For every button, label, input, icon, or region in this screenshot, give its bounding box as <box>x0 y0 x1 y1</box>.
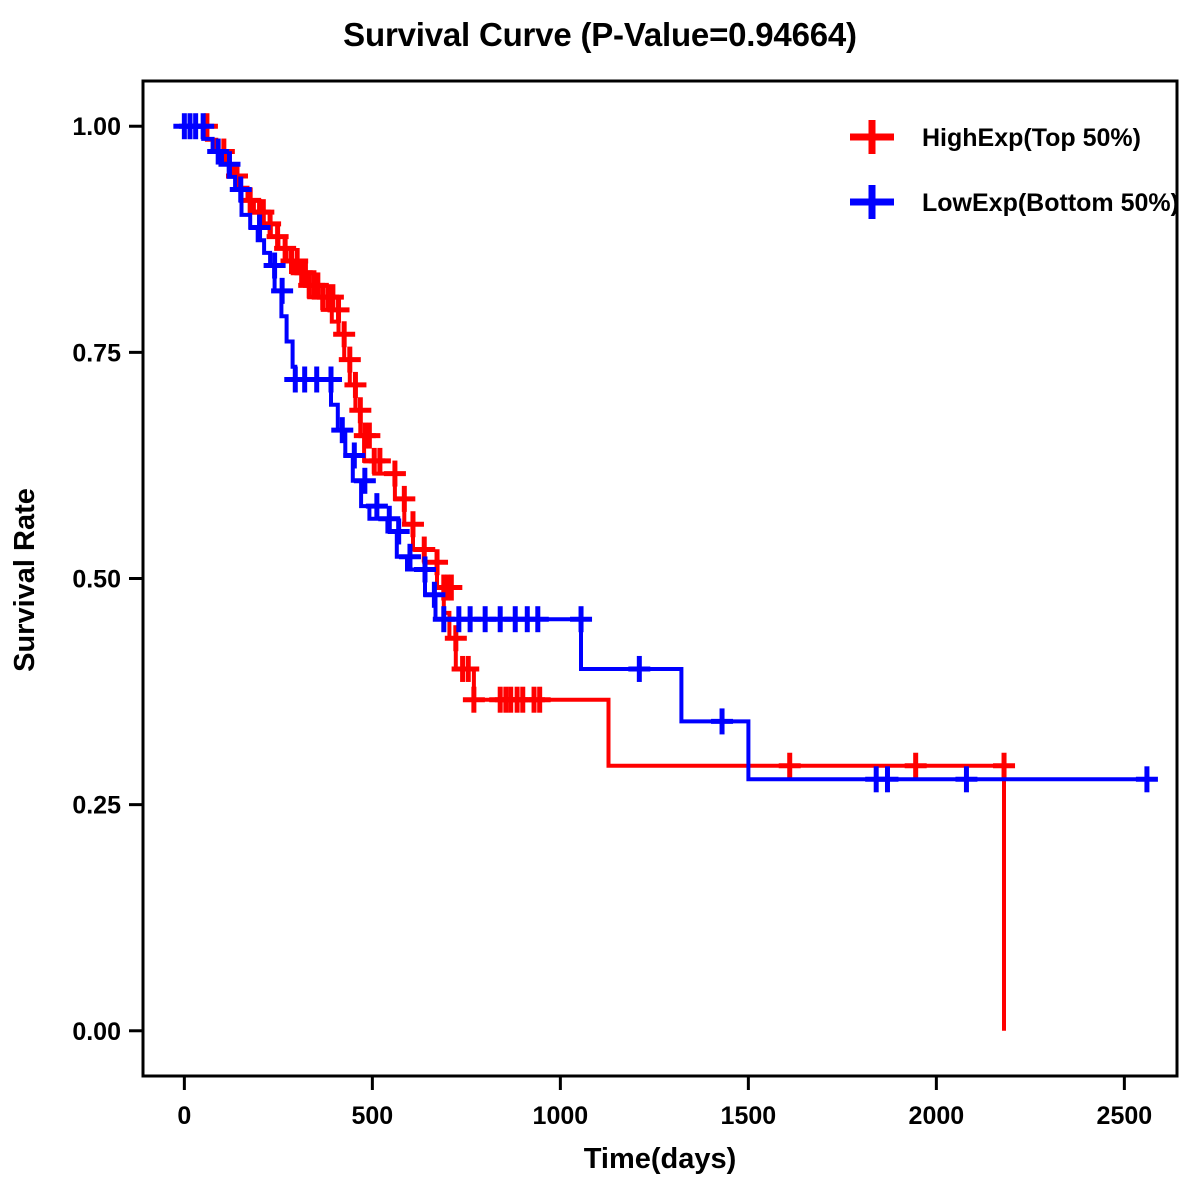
survival-plot: 0.000.250.500.751.00 0500100015002000250… <box>0 0 1200 1200</box>
y-axis-title: Survival Rate <box>9 488 41 672</box>
y-tick-label: 0.75 <box>72 339 121 367</box>
survival-chart-page: Survival Curve (P-Value=0.94664) 0.000.2… <box>0 0 1200 1200</box>
y-tick-label: 1.00 <box>72 113 121 141</box>
x-tick-label: 2500 <box>1097 1102 1153 1130</box>
x-tick-label: 500 <box>352 1102 394 1130</box>
x-axis-ticks: 05001000150020002500 <box>177 1076 1152 1130</box>
censor-marks <box>196 113 1015 779</box>
legend-label: HighExp(Top 50%) <box>922 124 1141 152</box>
x-axis-title: Time(days) <box>584 1143 737 1175</box>
legend-label: LowExp(Bottom 50%) <box>922 189 1179 217</box>
chart-legend: HighExp(Top 50%)LowExp(Bottom 50%) <box>850 120 1179 219</box>
legend-entry-0[interactable]: HighExp(Top 50%) <box>850 120 1141 154</box>
x-tick-label: 1000 <box>533 1102 589 1130</box>
y-axis-ticks: 0.000.250.500.751.00 <box>72 113 143 1046</box>
km-series-0 <box>184 113 1015 1031</box>
y-tick-label: 0.25 <box>72 792 121 820</box>
x-tick-label: 1500 <box>721 1102 777 1130</box>
legend-entry-1[interactable]: LowExp(Bottom 50%) <box>850 185 1179 219</box>
x-tick-label: 2000 <box>909 1102 965 1130</box>
y-tick-label: 0.50 <box>72 566 121 594</box>
y-tick-label: 0.00 <box>72 1018 121 1046</box>
km-step-line <box>184 126 1147 779</box>
plot-frame <box>143 81 1177 1076</box>
x-tick-label: 0 <box>177 1102 191 1130</box>
series-layer <box>173 113 1158 1031</box>
